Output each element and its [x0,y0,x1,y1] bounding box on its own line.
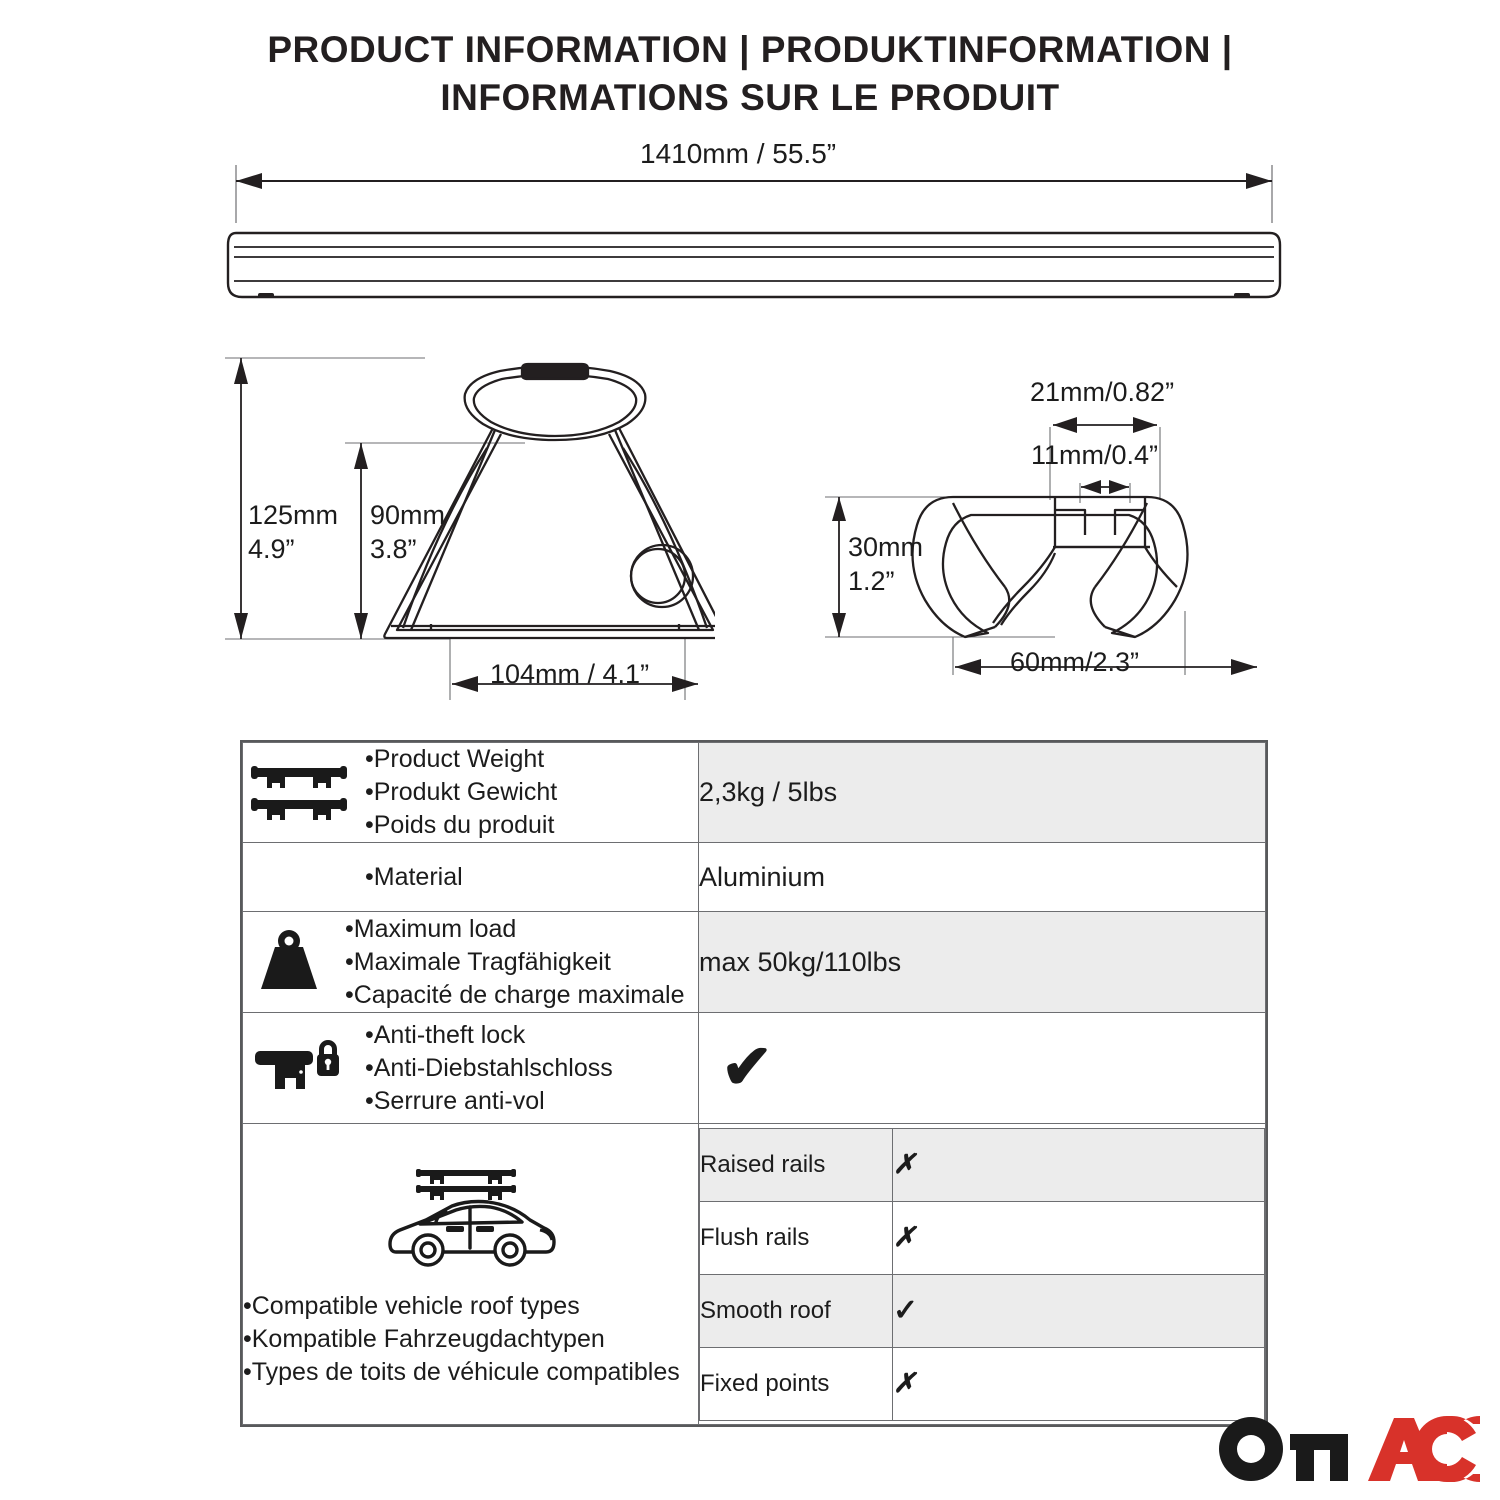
logo-letter-o [1219,1417,1283,1481]
row-value-maximum-load: max 50kg/110lbs [699,912,1266,1013]
cross-icon: ✗ [893,1368,916,1398]
row-label-texts: •Material [365,861,698,894]
page-title: PRODUCT INFORMATION | PRODUKTINFORMATION… [0,26,1500,122]
table-row: •Maximum load •Maximale Tragfähigkeit •C… [243,912,1266,1013]
label-line: •Maximum load [345,913,698,946]
label-line: •Types de toits de véhicule compatibles [243,1356,698,1389]
roof-type-name: Flush rails [700,1201,893,1274]
label-line: •Kompatible Fahrzeugdachtypen [243,1323,698,1356]
table-row-compat: •Compatible vehicle roof types •Kompatib… [243,1124,1266,1425]
product-spec-table: •Product Weight •Produkt Gewicht •Poids … [240,740,1268,1427]
roof-type-mark: ✗ [893,1128,1265,1201]
car-with-rack-icon [243,1160,698,1280]
row-label-maximum-load: •Maximum load •Maximale Tragfähigkeit •C… [243,912,699,1013]
checkmark-icon: ✔ [699,1037,1265,1099]
cross-icon: ✗ [893,1149,916,1179]
lock-bar-icon [243,1033,355,1103]
label-line: •Capacité de charge maximale [345,979,698,1012]
roof-type-subtable-cell: Raised rails ✗ Flush rails ✗ Smooth roof [699,1124,1266,1425]
roof-type-row: Smooth roof ✓ [700,1274,1265,1347]
weight-icon [243,927,335,997]
label-line: •Material [365,861,698,894]
omac-logo [1218,1416,1480,1482]
roof-type-mark: ✗ [893,1347,1265,1420]
table-row: •Product Weight •Produkt Gewicht •Poids … [243,743,1266,843]
cross-icon: ✗ [893,1222,916,1252]
roof-type-name: Raised rails [700,1128,893,1201]
label-line: •Anti-theft lock [365,1019,698,1052]
label-line: •Poids du produit [365,809,698,842]
slot-inner-label: 11mm/0.4” [1031,438,1158,472]
row-label-material: •Material [243,843,699,912]
logo-letter-m [1290,1434,1348,1481]
label-line: •Maximale Tragfähigkeit [345,946,698,979]
slot-outer-label: 21mm/0.82” [1030,375,1174,409]
profile-width-label: 60mm/2.3” [1010,645,1139,679]
row-label-compatible-roof-types: •Compatible vehicle roof types •Kompatib… [243,1124,699,1425]
check-icon: ✓ [893,1294,918,1327]
label-line: •Compatible vehicle roof types [243,1290,698,1323]
row-label-anti-theft-lock: •Anti-theft lock •Anti-Diebstahlschloss … [243,1013,699,1124]
logo-letter-c [1414,1416,1480,1482]
label-line: •Produkt Gewicht [365,776,698,809]
row-label-product-weight: •Product Weight •Produkt Gewicht •Poids … [243,743,699,843]
foot-height-inner-label: 90mm 3.8” [370,498,445,566]
title-line-2: INFORMATIONS SUR LE PRODUIT [0,74,1500,122]
table-row: •Material Aluminium [243,843,1266,912]
row-value-product-weight: 2,3kg / 5lbs [699,743,1266,843]
roof-type-mark: ✓ [893,1274,1265,1347]
roof-type-mark: ✗ [893,1201,1265,1274]
table-row: •Anti-theft lock •Anti-Diebstahlschloss … [243,1013,1266,1124]
row-label-texts: •Maximum load •Maximale Tragfähigkeit •C… [345,913,698,1012]
foot-width-label: 104mm / 4.1” [490,657,649,691]
row-value-anti-theft-lock: ✔ [699,1013,1266,1124]
crossbar-pair-icon [243,758,355,828]
roof-type-subtable: Raised rails ✗ Flush rails ✗ Smooth roof [699,1128,1265,1421]
row-label-texts: •Product Weight •Produkt Gewicht •Poids … [365,743,698,842]
roof-type-name: Fixed points [700,1347,893,1420]
roof-type-row: Fixed points ✗ [700,1347,1265,1420]
profile-height-label: 30mm 1.2” [848,530,923,598]
label-line: •Anti-Diebstahlschloss [365,1052,698,1085]
crossbar-length-drawing [220,165,1290,315]
row-value-material: Aluminium [699,843,1266,912]
roof-type-name: Smooth roof [700,1274,893,1347]
title-line-1: PRODUCT INFORMATION | PRODUKTINFORMATION… [0,26,1500,74]
foot-height-total-label: 125mm 4.9” [248,498,338,566]
compat-label-texts: •Compatible vehicle roof types •Kompatib… [243,1290,698,1389]
roof-type-row: Flush rails ✗ [700,1201,1265,1274]
row-label-texts: •Anti-theft lock •Anti-Diebstahlschloss … [365,1019,698,1118]
label-line: •Serrure anti-vol [365,1085,698,1118]
roof-type-row: Raised rails ✗ [700,1128,1265,1201]
label-line: •Product Weight [365,743,698,776]
